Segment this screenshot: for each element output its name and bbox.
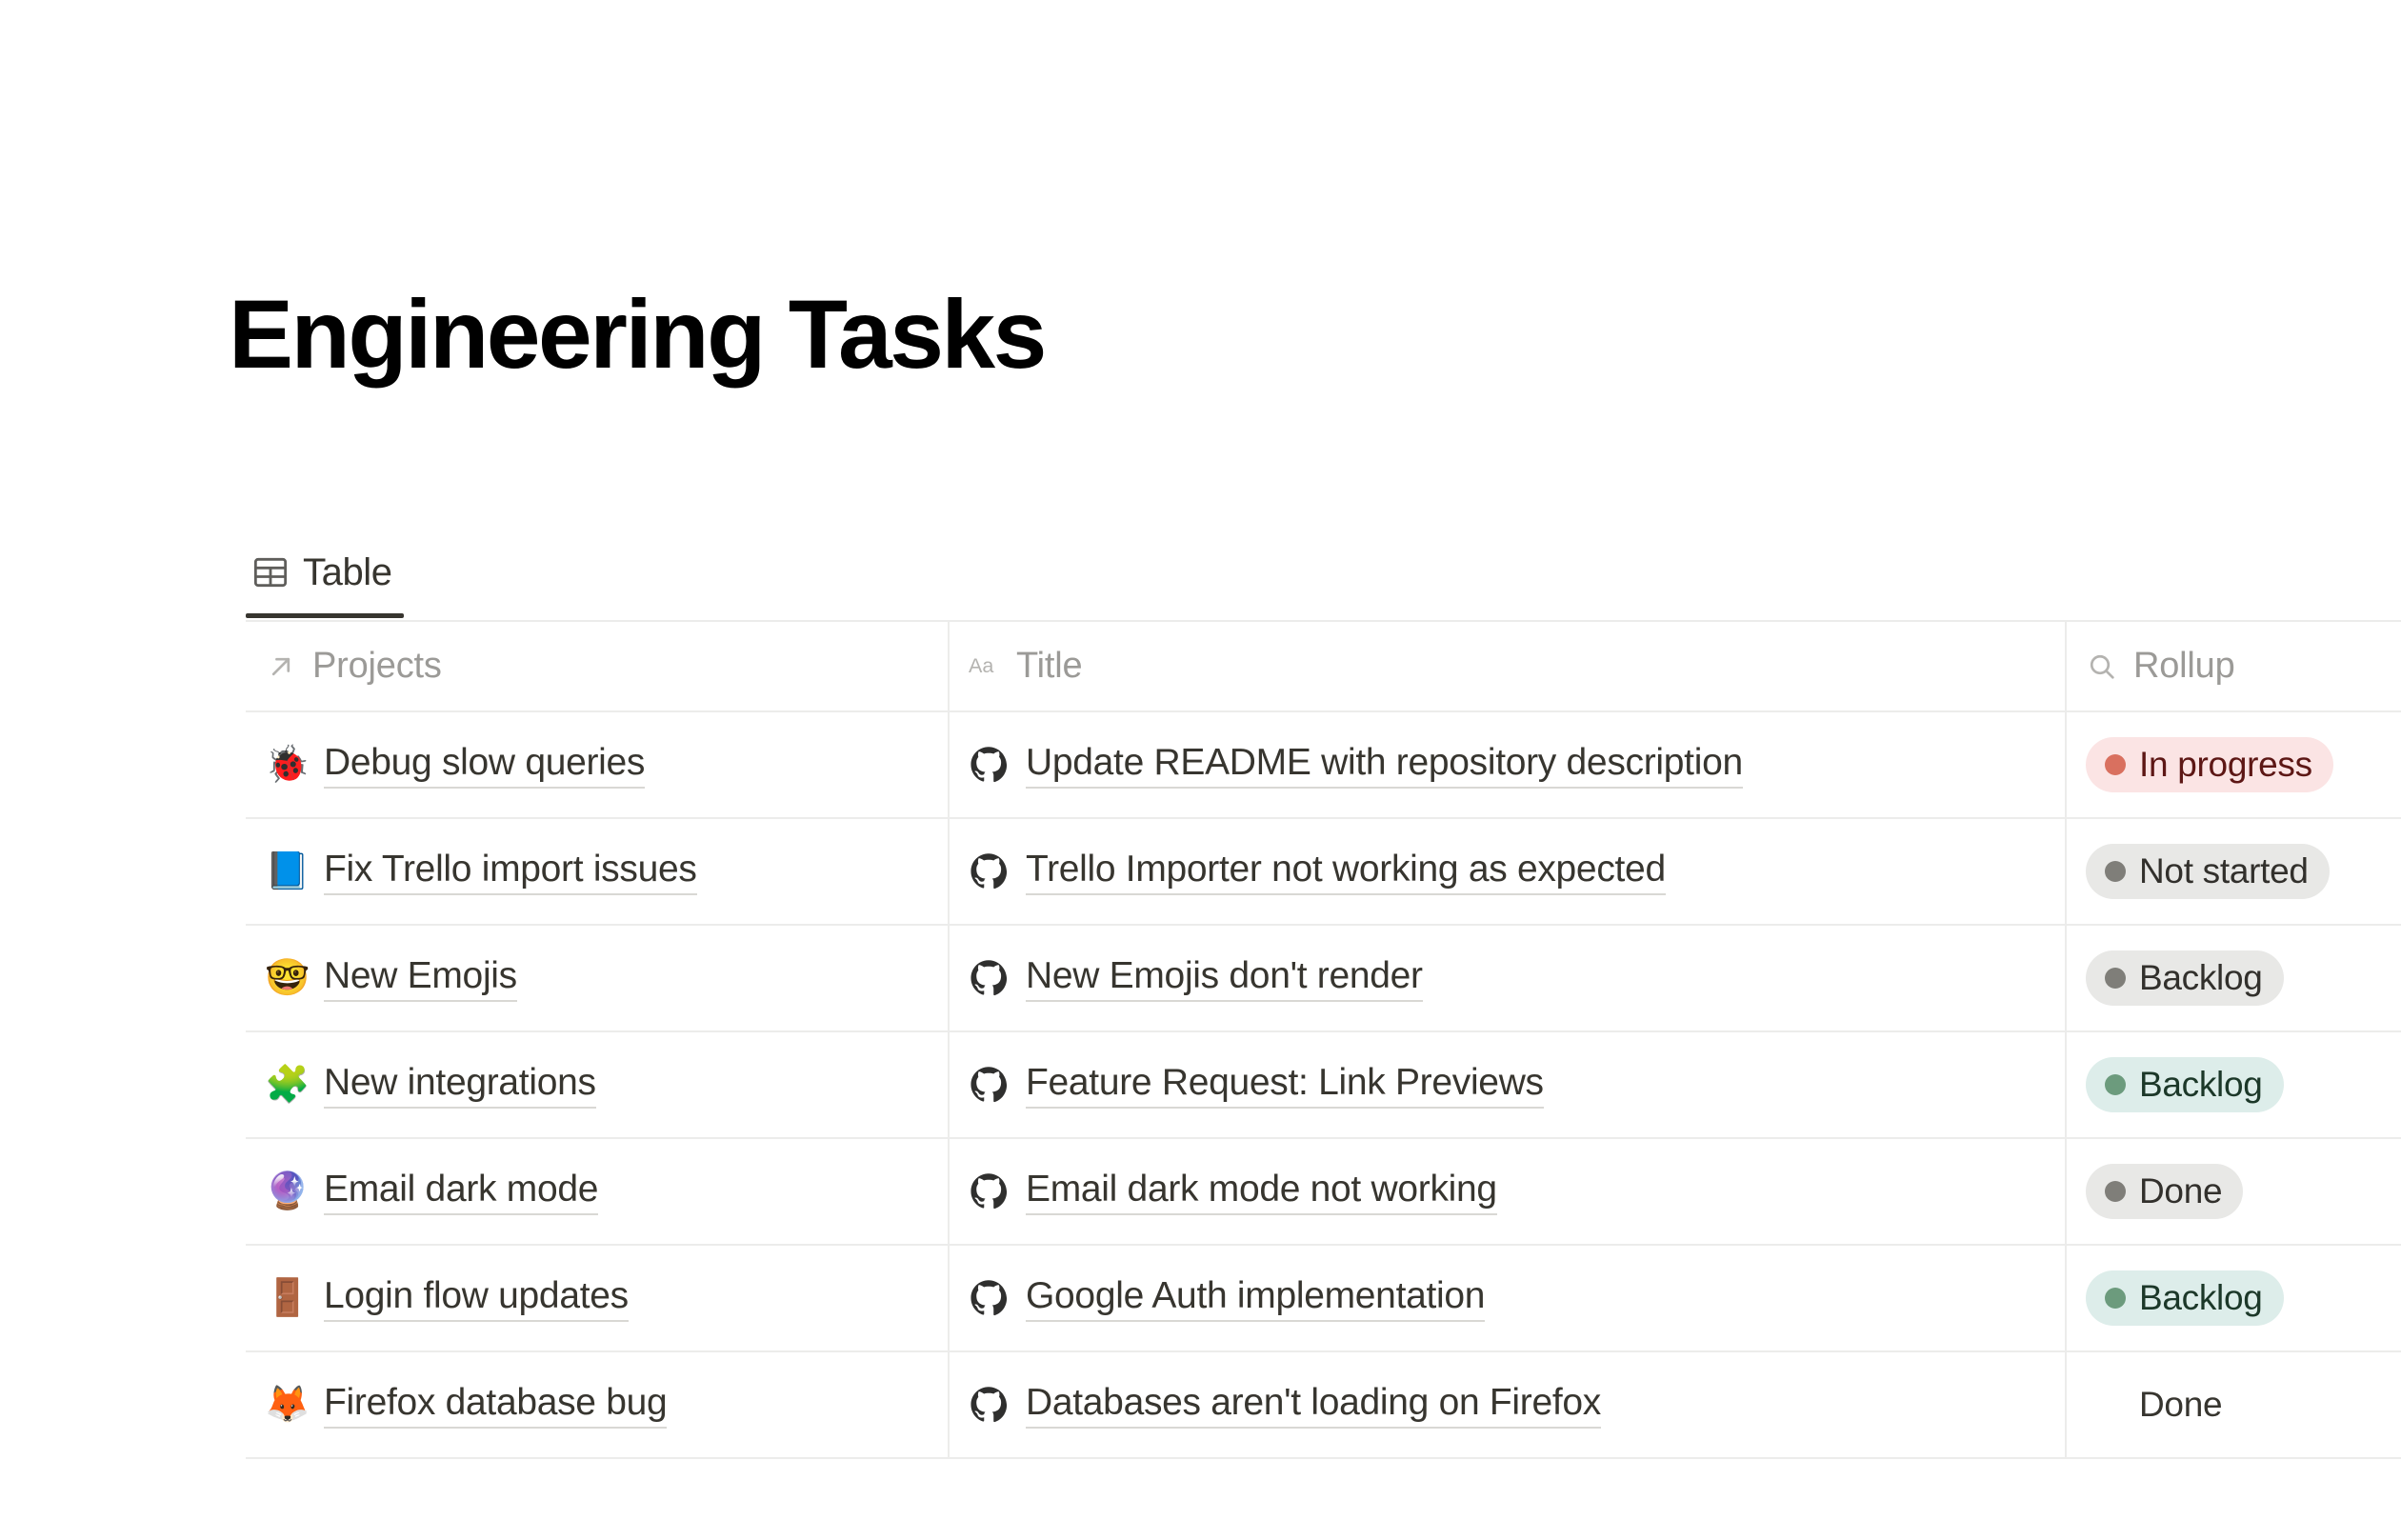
status-dot-icon bbox=[2105, 1181, 2126, 1202]
cell-projects[interactable]: 🐞 Debug slow queries bbox=[246, 712, 948, 817]
table-row: 🚪 Login flow updates Google Auth impleme… bbox=[246, 1246, 2401, 1352]
status-dot-icon bbox=[2105, 861, 2126, 882]
status-dot-icon bbox=[2105, 968, 2126, 989]
ladybug-emoji: 🐞 bbox=[265, 747, 307, 783]
status-dot-icon bbox=[2105, 1074, 2126, 1095]
cell-rollup[interactable]: Not started bbox=[2065, 819, 2401, 924]
status-badge-label: Backlog bbox=[2139, 1278, 2263, 1318]
table-row: 📘 Fix Trello import issues Trello Import… bbox=[246, 819, 2401, 926]
status-badge: Done bbox=[2086, 1164, 2243, 1219]
project-link[interactable]: Debug slow queries bbox=[324, 742, 645, 789]
cell-projects[interactable]: 🤓 New Emojis bbox=[246, 926, 948, 1030]
search-icon bbox=[2086, 650, 2118, 683]
cell-rollup[interactable]: Done bbox=[2065, 1139, 2401, 1244]
column-header-projects-label: Projects bbox=[312, 646, 442, 687]
cell-rollup[interactable]: Backlog bbox=[2065, 1246, 2401, 1350]
title-link[interactable]: Trello Importer not working as expected bbox=[1026, 849, 1666, 895]
table-row: 🦊 Firefox database bug Databases aren't … bbox=[246, 1352, 2401, 1459]
cell-projects[interactable]: 🦊 Firefox database bug bbox=[246, 1352, 948, 1457]
status-badge-label: Done bbox=[2139, 1171, 2222, 1211]
view-tab-bar: Table bbox=[246, 527, 404, 620]
database-table: Projects Aa Title bbox=[246, 620, 2401, 1459]
status-badge: Backlog bbox=[2086, 1057, 2284, 1112]
status-badge-label: Not started bbox=[2139, 851, 2309, 891]
table-header-row: Projects Aa Title bbox=[246, 622, 2401, 712]
cell-title[interactable]: Feature Request: Link Previews bbox=[948, 1032, 2065, 1137]
github-icon bbox=[969, 1065, 1009, 1105]
status-badge: Done bbox=[2086, 1377, 2243, 1432]
status-badge: Backlog bbox=[2086, 950, 2284, 1006]
aa-text-icon: Aa bbox=[969, 650, 1001, 683]
blue-book-emoji: 📘 bbox=[265, 853, 307, 890]
cell-projects[interactable]: 🧩 New integrations bbox=[246, 1032, 948, 1137]
status-badge-label: Done bbox=[2139, 1385, 2222, 1425]
status-badge-label: In progress bbox=[2139, 745, 2312, 785]
project-link[interactable]: Login flow updates bbox=[324, 1275, 629, 1322]
project-link[interactable]: New Emojis bbox=[324, 955, 517, 1002]
github-icon bbox=[969, 1171, 1009, 1211]
table-row: 🧩 New integrations Feature Request: Link… bbox=[246, 1032, 2401, 1139]
column-header-title-label: Title bbox=[1016, 646, 1082, 687]
fox-face-emoji: 🦊 bbox=[265, 1387, 307, 1423]
cell-title[interactable]: Databases aren't loading on Firefox bbox=[948, 1352, 2065, 1457]
cell-title[interactable]: Email dark mode not working bbox=[948, 1139, 2065, 1244]
cell-rollup[interactable]: In progress bbox=[2065, 712, 2401, 817]
title-link[interactable]: Feature Request: Link Previews bbox=[1026, 1062, 1544, 1109]
cell-title[interactable]: Trello Importer not working as expected bbox=[948, 819, 2065, 924]
status-badge-label: Backlog bbox=[2139, 958, 2263, 998]
status-dot-icon bbox=[2105, 1394, 2126, 1415]
status-dot-icon bbox=[2105, 1288, 2126, 1309]
arrow-up-right-icon bbox=[265, 650, 297, 683]
cell-rollup[interactable]: Done bbox=[2065, 1352, 2401, 1457]
title-link[interactable]: Update README with repository descriptio… bbox=[1026, 742, 1743, 789]
table-icon bbox=[251, 553, 290, 591]
crystal-ball-emoji: 🔮 bbox=[265, 1173, 307, 1210]
status-badge: Backlog bbox=[2086, 1270, 2284, 1326]
cell-rollup[interactable]: Backlog bbox=[2065, 926, 2401, 1030]
status-badge: In progress bbox=[2086, 737, 2333, 792]
github-icon bbox=[969, 1385, 1009, 1425]
tab-table-label: Table bbox=[303, 551, 392, 594]
title-link[interactable]: Email dark mode not working bbox=[1026, 1169, 1497, 1215]
column-header-rollup-label: Rollup bbox=[2133, 646, 2235, 687]
cell-rollup[interactable]: Backlog bbox=[2065, 1032, 2401, 1137]
title-link[interactable]: Google Auth implementation bbox=[1026, 1275, 1485, 1322]
column-header-projects[interactable]: Projects bbox=[246, 622, 948, 710]
cell-title[interactable]: Google Auth implementation bbox=[948, 1246, 2065, 1350]
door-emoji: 🚪 bbox=[265, 1280, 307, 1316]
nerd-face-emoji: 🤓 bbox=[265, 960, 307, 996]
table-row: 🤓 New Emojis New Emojis don't render bbox=[246, 926, 2401, 1032]
cell-projects[interactable]: 📘 Fix Trello import issues bbox=[246, 819, 948, 924]
status-badge: Not started bbox=[2086, 844, 2330, 899]
table-row: 🔮 Email dark mode Email dark mode not wo… bbox=[246, 1139, 2401, 1246]
page-title: Engineering Tasks bbox=[229, 286, 1045, 383]
project-link[interactable]: Fix Trello import issues bbox=[324, 849, 697, 895]
status-dot-icon bbox=[2105, 754, 2126, 775]
title-link[interactable]: Databases aren't loading on Firefox bbox=[1026, 1382, 1601, 1429]
project-link[interactable]: New integrations bbox=[324, 1062, 596, 1109]
title-link[interactable]: New Emojis don't render bbox=[1026, 955, 1423, 1002]
github-icon bbox=[969, 851, 1009, 891]
tab-table[interactable]: Table bbox=[246, 527, 404, 618]
column-header-title[interactable]: Aa Title bbox=[948, 622, 2065, 710]
cell-projects[interactable]: 🚪 Login flow updates bbox=[246, 1246, 948, 1350]
cell-title[interactable]: New Emojis don't render bbox=[948, 926, 2065, 1030]
status-badge-label: Backlog bbox=[2139, 1065, 2263, 1105]
cell-projects[interactable]: 🔮 Email dark mode bbox=[246, 1139, 948, 1244]
github-icon bbox=[969, 1278, 1009, 1318]
puzzle-piece-emoji: 🧩 bbox=[265, 1067, 307, 1103]
svg-text:Aa: Aa bbox=[969, 654, 993, 677]
column-header-rollup[interactable]: Rollup bbox=[2065, 622, 2401, 710]
cell-title[interactable]: Update README with repository descriptio… bbox=[948, 712, 2065, 817]
database-page: Engineering Tasks Table bbox=[0, 0, 2401, 1540]
project-link[interactable]: Firefox database bug bbox=[324, 1382, 667, 1429]
project-link[interactable]: Email dark mode bbox=[324, 1169, 598, 1215]
table-row: 🐞 Debug slow queries Update README with … bbox=[246, 712, 2401, 819]
github-icon bbox=[969, 745, 1009, 785]
github-icon bbox=[969, 958, 1009, 998]
